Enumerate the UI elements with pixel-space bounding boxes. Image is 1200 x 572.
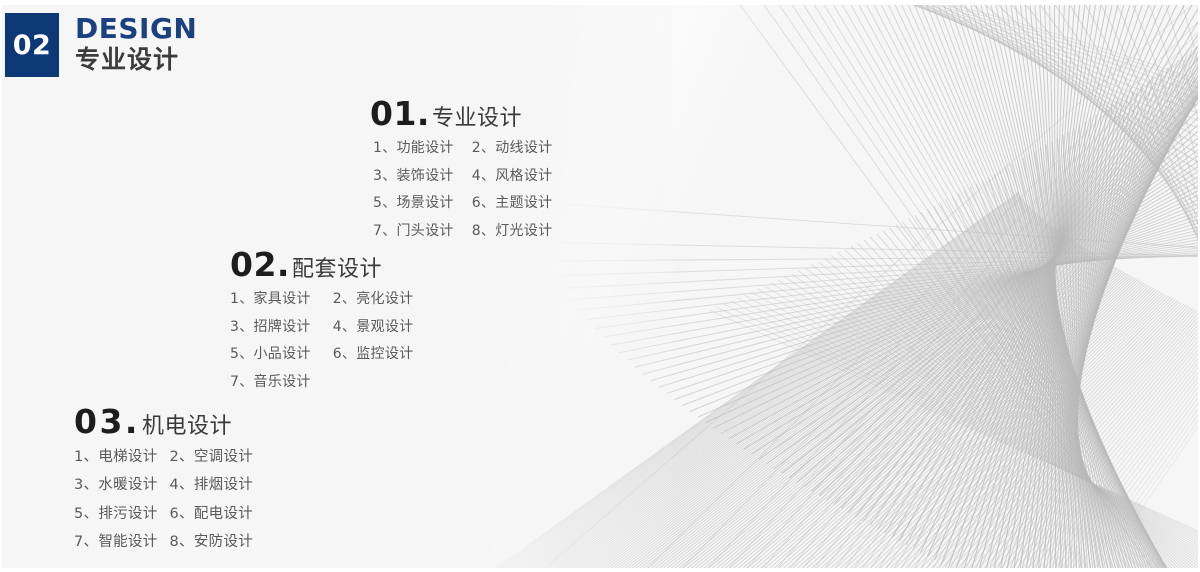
list-item: 2、亮化设计 (333, 289, 414, 311)
section-heading: 03. 机电设计 (74, 405, 253, 438)
section-number: 03. (74, 405, 140, 438)
slide-canvas: 02 DESIGN 专业设计 01. 专业设计 1、功能设计 2、动线设计 3、… (0, 0, 1200, 572)
section-label: 机电设计 (142, 416, 232, 438)
section-item-list: 1、功能设计 2、动线设计 3、装饰设计 4、风格设计 5、场景设计 6、主题设… (370, 138, 552, 243)
list-item: 1、电梯设计 (74, 446, 158, 468)
section-label: 配套设计 (292, 259, 382, 281)
list-item: 4、风格设计 (472, 166, 553, 188)
section-heading: 01. 专业设计 (370, 97, 552, 130)
list-item: 5、小品设计 (230, 344, 311, 366)
section-number: 01. (370, 97, 430, 130)
section-block-03: 03. 机电设计 1、电梯设计 2、空调设计 3、水暖设计 4、排烟设计 5、排… (74, 405, 253, 554)
section-block-02: 02. 配套设计 1、家具设计 2、亮化设计 3、招牌设计 4、景观设计 5、小… (230, 248, 413, 394)
list-item: 4、景观设计 (333, 317, 414, 339)
list-item: 3、招牌设计 (230, 317, 311, 339)
list-item: 6、配电设计 (170, 503, 254, 525)
section-block-01: 01. 专业设计 1、功能设计 2、动线设计 3、装饰设计 4、风格设计 5、场… (370, 97, 552, 243)
section-number-badge: 02 (5, 13, 59, 77)
section-label: 专业设计 (432, 108, 522, 130)
list-item: 6、监控设计 (333, 344, 414, 366)
page-title-cn: 专业设计 (75, 46, 197, 74)
list-item: 7、门头设计 (373, 221, 454, 243)
section-item-list: 1、电梯设计 2、空调设计 3、水暖设计 4、排烟设计 5、排污设计 6、配电设… (74, 446, 253, 554)
list-item: 8、安防设计 (170, 531, 254, 553)
list-item: 6、主题设计 (472, 193, 553, 215)
list-item: 2、空调设计 (170, 446, 254, 468)
list-item: 3、水暖设计 (74, 474, 158, 496)
page-title-en: DESIGN (75, 14, 197, 44)
list-item: 3、装饰设计 (373, 166, 454, 188)
list-item: 7、智能设计 (74, 531, 158, 553)
list-item: 8、灯光设计 (472, 221, 553, 243)
list-item: 7、音乐设计 (230, 372, 311, 394)
list-item: 1、家具设计 (230, 289, 311, 311)
list-item: 1、功能设计 (373, 138, 454, 160)
list-item: 5、排污设计 (74, 503, 158, 525)
list-item: 4、排烟设计 (170, 474, 254, 496)
header-title-group: DESIGN 专业设计 (75, 13, 197, 77)
section-item-list: 1、家具设计 2、亮化设计 3、招牌设计 4、景观设计 5、小品设计 6、监控设… (230, 289, 413, 394)
section-heading: 02. 配套设计 (230, 248, 413, 281)
list-item: 5、场景设计 (373, 193, 454, 215)
slide-header: 02 DESIGN 专业设计 (5, 13, 197, 77)
list-item: 2、动线设计 (472, 138, 553, 160)
section-number: 02. (230, 248, 290, 281)
